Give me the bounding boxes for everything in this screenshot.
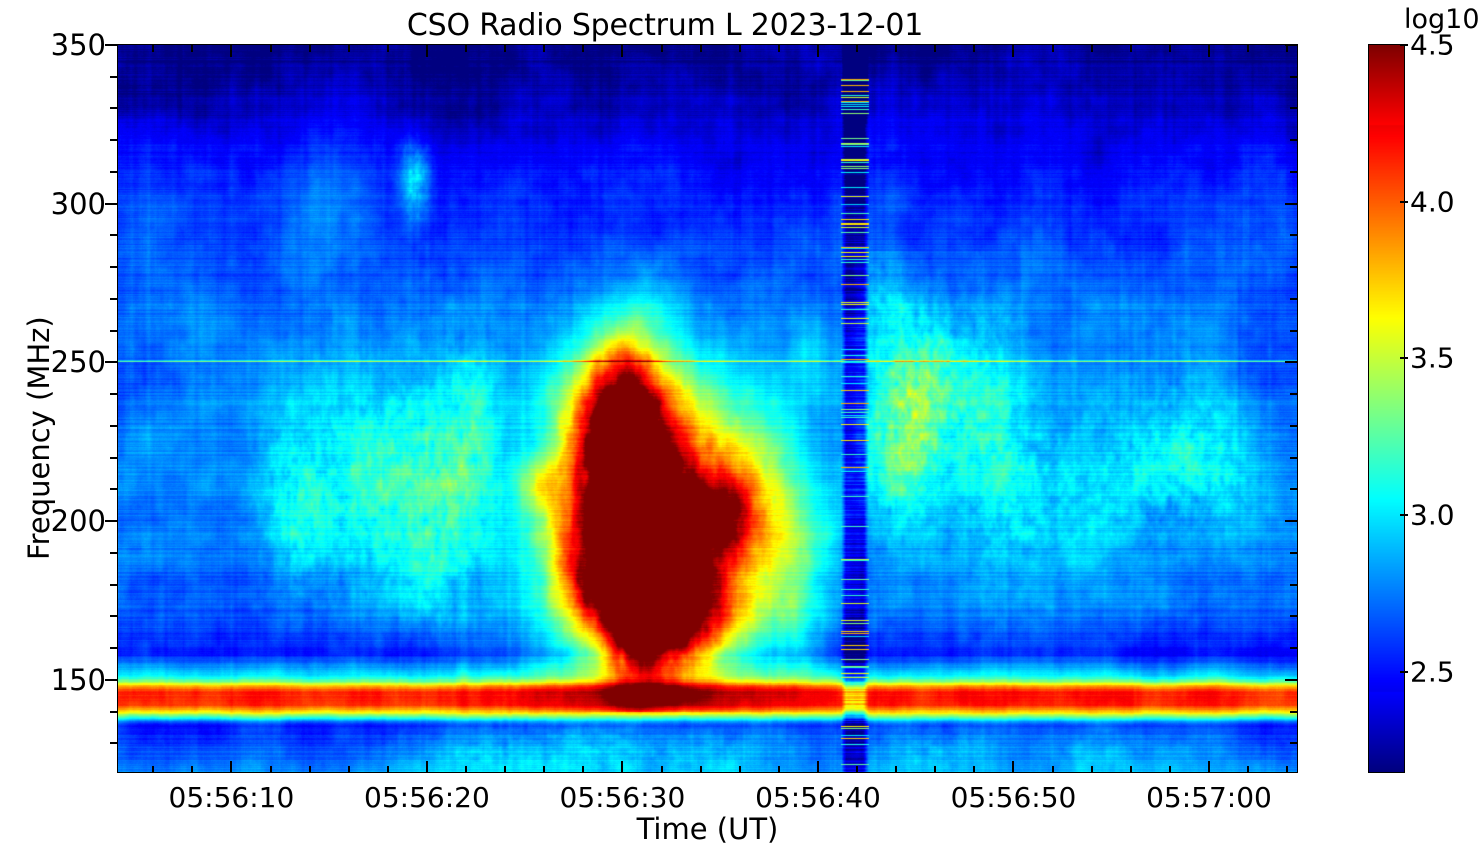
x-tick-minor-top: [504, 45, 506, 52]
x-tick-minor-top: [934, 45, 936, 52]
y-tick-minor: [110, 711, 117, 713]
x-tick-major-top: [1208, 45, 1210, 57]
y-tick-minor: [110, 615, 117, 617]
y-tick-minor: [110, 234, 117, 236]
y-tick-major: [105, 203, 117, 205]
x-tick-minor-top: [309, 45, 311, 52]
x-tick-minor-top: [1247, 45, 1249, 52]
colorbar-gradient: [1369, 45, 1404, 772]
x-tick-label: 05:56:20: [364, 781, 490, 814]
x-tick-minor: [934, 766, 936, 773]
x-tick-minor: [895, 766, 897, 773]
y-tick-minor-right: [1290, 711, 1297, 713]
x-tick-minor-top: [778, 45, 780, 52]
x-tick-minor: [1286, 766, 1288, 773]
y-tick-label: 150: [51, 663, 106, 697]
y-tick-minor-right: [1290, 330, 1297, 332]
figure-root: CSO Radio Spectrum L 2023-12-01 log10 Fr…: [0, 0, 1480, 854]
x-tick-label: 05:57:00: [1146, 781, 1272, 814]
colorbar-tick: [1400, 44, 1408, 46]
colorbar-tick: [1400, 357, 1408, 359]
spectrogram-image: [118, 45, 1297, 772]
x-tick-minor: [1169, 766, 1171, 773]
y-tick-label: 300: [51, 187, 106, 221]
x-tick-minor: [973, 766, 975, 773]
x-tick-minor-top: [973, 45, 975, 52]
x-tick-minor-top: [856, 45, 858, 52]
x-tick-major: [621, 761, 623, 773]
x-tick-minor-top: [661, 45, 663, 52]
y-tick-minor: [110, 76, 117, 78]
y-tick-minor-right: [1290, 488, 1297, 490]
y-tick-major-right: [1285, 679, 1297, 681]
y-tick-minor-right: [1290, 234, 1297, 236]
x-tick-minor-top: [387, 45, 389, 52]
y-tick-minor-right: [1290, 171, 1297, 173]
x-tick-minor-top: [1091, 45, 1093, 52]
x-tick-major: [1012, 761, 1014, 773]
x-tick-minor: [582, 766, 584, 773]
x-tick-major: [817, 761, 819, 773]
x-tick-label: 05:56:40: [755, 781, 881, 814]
x-tick-label: 05:56:10: [169, 781, 295, 814]
x-tick-minor-top: [1286, 45, 1288, 52]
y-tick-major: [105, 361, 117, 363]
page-title: CSO Radio Spectrum L 2023-12-01: [0, 8, 1330, 43]
x-tick-minor-top: [543, 45, 545, 52]
x-tick-minor: [700, 766, 702, 773]
spectrogram-panel[interactable]: [117, 44, 1298, 773]
y-tick-minor: [110, 393, 117, 395]
y-tick-major: [105, 520, 117, 522]
colorbar-tick-label: 2.5: [1410, 655, 1455, 688]
x-tick-minor-top: [1052, 45, 1054, 52]
x-tick-minor-top: [152, 45, 154, 52]
y-tick-minor-right: [1290, 552, 1297, 554]
x-tick-minor: [348, 766, 350, 773]
x-tick-minor-top: [348, 45, 350, 52]
x-tick-minor: [152, 766, 154, 773]
x-tick-minor: [191, 766, 193, 773]
x-tick-minor: [1091, 766, 1093, 773]
y-tick-minor-right: [1290, 742, 1297, 744]
y-tick-minor: [110, 647, 117, 649]
y-tick-minor: [110, 488, 117, 490]
y-tick-minor: [110, 298, 117, 300]
y-tick-minor: [110, 742, 117, 744]
y-tick-major-right: [1285, 361, 1297, 363]
y-tick-minor-right: [1290, 647, 1297, 649]
y-tick-minor-right: [1290, 425, 1297, 427]
y-tick-major-right: [1285, 203, 1297, 205]
x-axis-label: Time (UT): [117, 812, 1298, 846]
x-tick-major-top: [230, 45, 232, 57]
y-tick-minor: [110, 171, 117, 173]
y-tick-minor: [110, 266, 117, 268]
x-tick-label: 05:56:50: [951, 781, 1077, 814]
colorbar-tick-label: 4.5: [1410, 29, 1455, 62]
y-tick-major-right: [1285, 520, 1297, 522]
y-tick-minor-right: [1290, 139, 1297, 141]
x-tick-minor: [387, 766, 389, 773]
y-tick-minor-right: [1290, 107, 1297, 109]
x-tick-minor: [661, 766, 663, 773]
y-tick-minor: [110, 425, 117, 427]
x-tick-major-top: [426, 45, 428, 57]
colorbar-tick: [1400, 671, 1408, 673]
y-tick-minor-right: [1290, 615, 1297, 617]
y-tick-minor: [110, 139, 117, 141]
x-tick-major-top: [817, 45, 819, 57]
x-tick-minor-top: [582, 45, 584, 52]
x-tick-major: [1208, 761, 1210, 773]
x-tick-minor-top: [739, 45, 741, 52]
x-tick-minor: [778, 766, 780, 773]
x-tick-minor: [856, 766, 858, 773]
y-tick-label: 350: [51, 28, 106, 62]
x-tick-minor: [270, 766, 272, 773]
y-tick-major: [105, 44, 117, 46]
y-tick-minor-right: [1290, 393, 1297, 395]
y-tick-minor-right: [1290, 457, 1297, 459]
x-tick-minor: [739, 766, 741, 773]
y-tick-minor: [110, 584, 117, 586]
x-tick-minor: [1052, 766, 1054, 773]
x-tick-minor-top: [1169, 45, 1171, 52]
colorbar-tick: [1400, 201, 1408, 203]
x-tick-major-top: [1012, 45, 1014, 57]
y-tick-minor: [110, 457, 117, 459]
y-tick-minor: [110, 330, 117, 332]
y-tick-minor-right: [1290, 266, 1297, 268]
x-tick-minor: [504, 766, 506, 773]
x-tick-minor-top: [270, 45, 272, 52]
y-tick-minor-right: [1290, 584, 1297, 586]
colorbar-tick-label: 4.0: [1410, 185, 1455, 218]
x-tick-minor: [309, 766, 311, 773]
y-tick-major: [105, 679, 117, 681]
x-tick-minor-top: [191, 45, 193, 52]
x-tick-minor-top: [1130, 45, 1132, 52]
x-tick-minor: [1247, 766, 1249, 773]
x-tick-major: [426, 761, 428, 773]
x-tick-minor: [465, 766, 467, 773]
x-tick-minor: [1130, 766, 1132, 773]
y-tick-label: 250: [51, 345, 106, 379]
y-tick-minor-right: [1290, 298, 1297, 300]
colorbar-tick-label: 3.0: [1410, 499, 1455, 532]
y-tick-minor: [110, 107, 117, 109]
x-tick-minor-top: [700, 45, 702, 52]
colorbar-panel[interactable]: [1368, 44, 1405, 773]
x-tick-minor: [543, 766, 545, 773]
y-tick-label: 200: [51, 504, 106, 538]
colorbar-tick-label: 3.5: [1410, 342, 1455, 375]
x-tick-label: 05:56:30: [560, 781, 686, 814]
x-tick-minor-top: [465, 45, 467, 52]
y-tick-minor: [110, 552, 117, 554]
x-tick-major-top: [621, 45, 623, 57]
colorbar-tick: [1400, 514, 1408, 516]
y-tick-minor-right: [1290, 76, 1297, 78]
x-tick-major: [230, 761, 232, 773]
x-tick-minor-top: [895, 45, 897, 52]
